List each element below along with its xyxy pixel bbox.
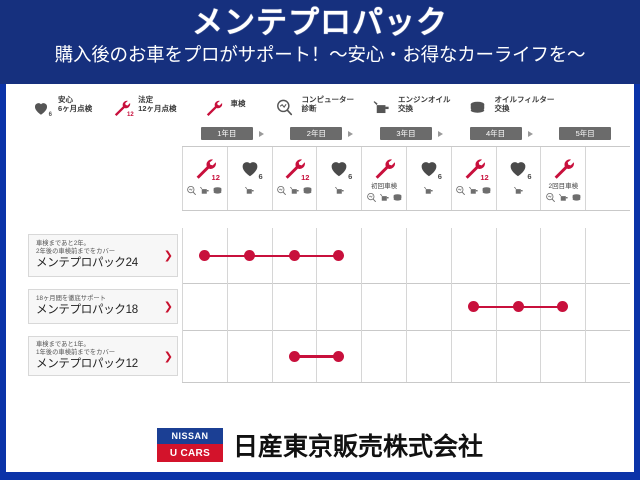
heart-icon: 6 [32,99,50,117]
oil-can-icon [199,185,210,196]
heart-icon: 6 [239,157,261,179]
magnifier-icon [366,192,377,203]
poster-header: メンテプロパック 購入後のお車をプロがサポート！～安心・お得なカーライフを～ [0,0,640,84]
package-row: 18ヶ月間を徹底サポートメンテプロパック18❯ [12,283,634,330]
timeline-cell [227,283,272,330]
service-icon-row: 126126初回車検61262回目車検 [182,146,630,211]
content-area: 6安心6ヶ月点検12法定12ヶ月点検車検コンピューター診断エンジンオイル交換オイ… [6,84,634,418]
package-timeline-track [182,330,630,382]
package-name: メンテプロパック24 [36,256,162,271]
oil-can-icon [289,185,300,196]
oil-can-icon [244,185,255,196]
timeline-column: 6 [496,147,541,210]
column-main-icon: 6 [507,147,529,186]
timeline-cell [540,330,585,382]
year-separator-arrow-icon [438,131,443,137]
icon-badge-number: 12 [127,111,134,119]
legend-icon-wrap: 12 [108,91,134,117]
package-name: メンテプロパック12 [36,357,162,372]
icon-badge-number: 6 [527,173,531,181]
oil-filter-icon [468,98,487,117]
package-row: 車検まであと1年。1年後の車検前までをカバーメンテプロパック12❯ [12,330,634,382]
column-main-icon: 12 [282,147,306,186]
magnifier-icon [545,192,556,203]
timeline-cell [496,228,541,283]
package-card[interactable]: 車検まであと2年。2年後の車検前までをカバーメンテプロパック24❯ [28,234,178,277]
coverage-line [294,355,339,358]
oil-filter-icon [481,185,492,196]
wrench-icon: 12 [112,98,131,117]
timeline-cell [361,228,406,283]
company-name: 日産東京販売株式会社 [233,427,483,463]
coverage-dot [513,301,524,312]
wrench-icon: 12 [193,156,217,180]
legend-label-line2: 交換 [495,104,555,114]
nissan-ucars-logo: NISSAN U CARS [157,428,223,462]
column-sub-icons [276,185,313,196]
column-sub-icons [455,185,492,196]
year-label: 1年目 [201,127,253,140]
column-sub-icons [513,185,524,196]
legend-label: エンジンオイル交換 [398,95,451,114]
icon-badge-number: 12 [301,174,309,182]
timeline-column: 初回車検 [361,147,406,210]
legend-icon-wrap [201,91,227,117]
wrench-icon [372,156,396,180]
timeline-cell [496,330,541,382]
wrench-icon [204,98,223,117]
oil-filter-icon [571,192,582,203]
magnifier-icon [276,185,287,196]
coverage-dot [289,250,300,261]
legend-label: 車検 [231,99,246,109]
legend-icon-wrap [465,91,491,117]
magnifier-icon [186,185,197,196]
year-separator-arrow-icon [348,131,353,137]
timeline-column: 6 [227,147,272,210]
legend-label-line1: エンジンオイル [398,95,451,105]
oil-filter-icon [302,185,313,196]
package-rows: 車検まであと2年。2年後の車検前までをカバーメンテプロパック24❯18ヶ月間を徹… [12,228,634,382]
icon-badge-number: 12 [212,174,220,182]
wrench-icon: 12 [282,156,306,180]
package-card-text: 車検まであと2年。2年後の車検前までをカバーメンテプロパック24 [36,240,162,271]
legend-item: 12法定12ヶ月点検 [108,91,176,117]
column-main-icon: 6 [328,147,350,186]
column-main-icon: 12 [462,147,486,186]
package-name: メンテプロパック18 [36,303,162,318]
timeline-column [585,147,630,210]
package-card[interactable]: 車検まであと1年。1年後の車検前までをカバーメンテプロパック12❯ [28,336,178,376]
timeline-cell [540,228,585,283]
poster-root: メンテプロパック 購入後のお車をプロがサポート！～安心・お得なカーライフを～ 6… [0,0,640,480]
legend-label-line2: 6ヶ月点検 [58,104,92,114]
timeline-column: 12 [272,147,317,210]
coverage-dot [199,250,210,261]
timeline-cell [585,228,630,283]
legend-label-line1: 車検 [231,99,246,109]
package-card-text: 18ヶ月間を徹底サポートメンテプロパック18 [36,295,162,318]
timeline-cell [182,330,227,382]
legend-label-line2: 12ヶ月点検 [138,104,176,114]
column-sub-icons [244,185,255,196]
oil-can-icon [513,185,524,196]
oil-can-icon [334,185,345,196]
timeline-column: 12 [451,147,496,210]
package-row: 車検まであと2年。2年後の車検前までをカバーメンテプロパック24❯ [12,228,634,283]
chevron-right-icon[interactable]: ❯ [164,249,173,262]
legend-item: 車検 [201,91,246,117]
heart-icon: 6 [507,157,529,179]
poster-footer: NISSAN U CARS 日産東京販売株式会社 [6,418,634,472]
timeline-column: 6 [316,147,361,210]
timeline-cell [316,283,361,330]
page-title: メンテプロパック [192,4,448,42]
legend-icon-wrap [272,91,298,117]
timeline-cell [451,330,496,382]
timeline-cell [361,283,406,330]
heart-icon: 6 [328,157,350,179]
icon-badge-number: 6 [438,173,442,181]
year-header-row: 1年目2年目3年目4年目5年目 [182,124,630,146]
heart-icon: 6 [418,157,440,179]
timeline-cell [272,283,317,330]
oil-filter-icon [212,185,223,196]
package-note-line1: 車検まであと1年。 [36,341,162,349]
magnifier-icon [275,98,294,117]
legend-icon-wrap: 6 [28,91,54,117]
column-main-icon [372,147,396,186]
legend-label: 安心6ヶ月点検 [58,95,92,114]
icon-badge-number: 6 [259,173,263,181]
column-sub-icons [366,192,403,203]
year-label: 4年目 [470,127,522,140]
column-inspection-label: 2回目車検 [548,183,578,190]
magnifier-icon [455,185,466,196]
legend-label: コンピューター診断 [302,95,355,114]
coverage-line [204,255,338,258]
legend-label-line2: 交換 [398,104,451,114]
oil-can-icon [423,185,434,196]
icon-badge-number: 12 [480,174,488,182]
timeline-column: 12 [182,147,227,210]
package-card[interactable]: 18ヶ月間を徹底サポートメンテプロパック18❯ [28,289,178,324]
legend-label-line1: オイルフィルター [495,95,555,105]
column-sub-icons [545,192,582,203]
timeline-cell [451,228,496,283]
column-sub-icons [423,185,434,196]
timeline-cell [182,283,227,330]
icon-badge-number: 6 [348,173,352,181]
legend-label-line1: 法定 [138,95,176,105]
oil-filter-icon [392,192,403,203]
wrench-icon [551,156,575,180]
legend-label-line1: コンピューター [302,95,355,105]
legend-label-line1: 安心 [58,95,92,105]
timeline-cell [227,330,272,382]
wrench-icon: 12 [462,156,486,180]
legend-label-line2: 診断 [302,104,355,114]
coverage-dot [244,250,255,261]
timeline-cell [361,330,406,382]
year-label: 5年目 [559,127,611,140]
timeline-grid: 1年目2年目3年目4年目5年目 126126初回車検61262回目車検 [182,124,630,211]
oil-can-icon [558,192,569,203]
package-card-text: 車検まであと1年。1年後の車検前までをカバーメンテプロパック12 [36,341,162,372]
legend-bar: 6安心6ヶ月点検12法定12ヶ月点検車検コンピューター診断エンジンオイル交換オイ… [6,84,634,124]
legend-icon-wrap [368,91,394,117]
coverage-dot [289,351,300,362]
page-subtitle: 購入後のお車をプロがサポート！～安心・お得なカーライフを～ [55,43,586,67]
timeline-column: 6 [406,147,451,210]
timeline-cell [406,228,451,283]
chevron-right-icon[interactable]: ❯ [164,300,173,313]
oil-can-icon [379,192,390,203]
logo-ucars-text: U CARS [157,444,223,462]
package-timeline-track [182,283,630,330]
logo-nissan-text: NISSAN [157,428,223,444]
chevron-right-icon[interactable]: ❯ [164,350,173,363]
year-label: 2年目 [290,127,342,140]
legend-item: コンピューター診断 [272,91,355,117]
timeline-cell [406,330,451,382]
column-sub-icons [186,185,223,196]
legend-label: 法定12ヶ月点検 [138,95,176,114]
coverage-dot [468,301,479,312]
timeline-cell [585,283,630,330]
column-inspection-label: 初回車検 [371,183,397,190]
legend-item: 6安心6ヶ月点検 [28,91,92,117]
column-main-icon: 12 [193,147,217,186]
column-main-icon: 6 [418,147,440,186]
year-label: 3年目 [380,127,432,140]
year-separator-arrow-icon [259,131,264,137]
timeline-cell [406,283,451,330]
oil-can-icon [372,98,391,117]
timeline-column: 2回目車検 [540,147,585,210]
package-note-line1: 18ヶ月間を徹底サポート [36,295,162,303]
legend-item: エンジンオイル交換 [368,91,451,117]
package-note-line2: 1年後の車検前までをカバー [36,349,162,357]
year-separator-arrow-icon [528,131,533,137]
package-note-line1: 車検まであと2年。 [36,240,162,248]
package-note-line2: 2年後の車検前までをカバー [36,248,162,256]
oil-can-icon [468,185,479,196]
legend-item: オイルフィルター交換 [465,91,555,117]
timeline-cell [585,330,630,382]
column-sub-icons [334,185,345,196]
row-separator [182,382,630,383]
column-main-icon: 6 [239,147,261,186]
column-main-icon [551,147,575,186]
legend-label: オイルフィルター交換 [495,95,555,114]
icon-badge-number: 6 [49,111,52,119]
coverage-dot [333,351,344,362]
package-timeline-track [182,228,630,283]
